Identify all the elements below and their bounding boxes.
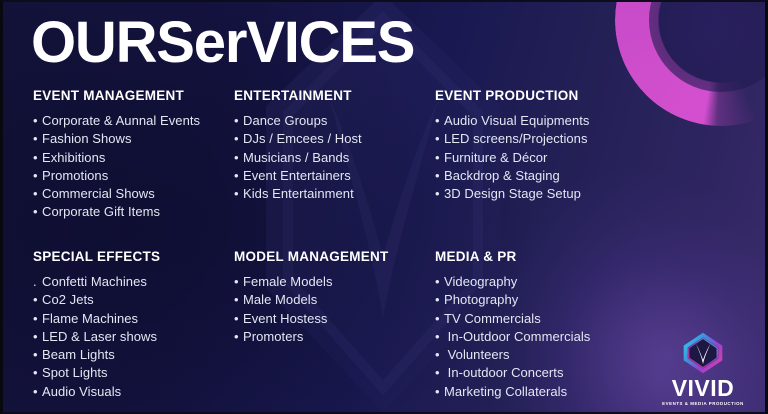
- bullet-marker: •: [435, 383, 444, 401]
- brand-logo: VIVID EVENTS & MEDIA PRODUCTION: [655, 330, 751, 406]
- bullet-marker: •: [33, 328, 42, 346]
- logo-tagline: EVENTS & MEDIA PRODUCTION: [655, 402, 751, 406]
- list-item-label: Corporate & Aunnal Events: [42, 113, 200, 128]
- list-item: •LED & Laser shows: [33, 328, 233, 346]
- list-item: •Corporate & Aunnal Events: [33, 112, 233, 130]
- list-item: •Videography: [435, 273, 655, 291]
- list-item: •Male Models: [234, 291, 434, 309]
- list-item: • In-Outdoor Commercials: [435, 328, 655, 346]
- list-item-label: Marketing Collaterals: [444, 384, 567, 399]
- list-item-label: Fashion Shows: [42, 131, 132, 146]
- bullet-marker: •: [435, 112, 444, 130]
- bullet-marker: •: [33, 346, 42, 364]
- list-item: •Audio Visuals: [33, 383, 233, 401]
- list-item-label: In-outdoor Concerts: [444, 365, 564, 380]
- bullet-marker: •: [435, 273, 444, 291]
- list-item: •Promoters: [234, 328, 434, 346]
- bullet-marker: •: [234, 310, 243, 328]
- list-item-label: Confetti Machines: [42, 274, 147, 289]
- list-item-label: Volunteers: [444, 347, 510, 362]
- service-block-event-management: EVENT MANAGEMENT •Corporate & Aunnal Eve…: [33, 88, 233, 222]
- services-row-top: EVENT MANAGEMENT •Corporate & Aunnal Eve…: [3, 88, 768, 208]
- service-list: •Videography •Photography •TV Commercial…: [435, 273, 655, 401]
- list-item: •Female Models: [234, 273, 434, 291]
- list-item-label: In-Outdoor Commercials: [444, 329, 590, 344]
- service-block-special-effects: SPECIAL EFFECTS .Confetti Machines •Co2 …: [33, 249, 233, 401]
- list-item: •TV Commercials: [435, 310, 655, 328]
- list-item: •Flame Machines: [33, 310, 233, 328]
- bullet-marker: •: [33, 185, 42, 203]
- list-item: •Musicians / Bands: [234, 149, 434, 167]
- list-item-label: LED & Laser shows: [42, 329, 157, 344]
- service-block-model-management: MODEL MANAGEMENT •Female Models •Male Mo…: [234, 249, 434, 346]
- list-item: •Dance Groups: [234, 112, 434, 130]
- bullet-marker: •: [234, 149, 243, 167]
- list-item-label: Co2 Jets: [42, 292, 94, 307]
- service-list: •Audio Visual Equipments •LED screens/Pr…: [435, 112, 655, 203]
- bullet-marker: •: [33, 364, 42, 382]
- list-item-label: Event Hostess: [243, 311, 327, 326]
- bullet-marker: •: [33, 149, 42, 167]
- list-item-label: Audio Visuals: [42, 384, 121, 399]
- list-item: •Photography: [435, 291, 655, 309]
- bullet-marker: •: [33, 112, 42, 130]
- page-title-upper: OUR: [31, 10, 156, 75]
- bullet-marker: •: [435, 149, 444, 167]
- list-item-label: Male Models: [243, 292, 317, 307]
- list-item-label: Photography: [444, 292, 518, 307]
- list-item: •Co2 Jets: [33, 291, 233, 309]
- list-item: •Kids Entertainment: [234, 185, 434, 203]
- bullet-marker: •: [435, 364, 444, 382]
- list-item-label: Dance Groups: [243, 113, 327, 128]
- list-item-label: Promoters: [243, 329, 303, 344]
- list-item-label: Audio Visual Equipments: [444, 113, 589, 128]
- list-item-label: Promotions: [42, 168, 108, 183]
- list-item-label: TV Commercials: [444, 311, 541, 326]
- page-title: OURSerVICES: [31, 14, 414, 72]
- services-grid: EVENT MANAGEMENT •Corporate & Aunnal Eve…: [3, 88, 768, 409]
- bullet-marker: •: [234, 291, 243, 309]
- list-item-label: Backdrop & Staging: [444, 168, 560, 183]
- bullet-marker: •: [33, 310, 42, 328]
- bullet-marker: •: [435, 346, 444, 364]
- bullet-marker: •: [435, 310, 444, 328]
- list-item: •Exhibitions: [33, 149, 233, 167]
- list-item: • Volunteers: [435, 346, 655, 364]
- list-item-label: Corporate Gift Items: [42, 204, 160, 219]
- service-list: .Confetti Machines •Co2 Jets •Flame Mach…: [33, 273, 233, 401]
- service-list: •Corporate & Aunnal Events •Fashion Show…: [33, 112, 233, 222]
- list-item-label: Musicians / Bands: [243, 150, 349, 165]
- list-item-label: Furniture & Décor: [444, 150, 547, 165]
- bullet-marker: •: [33, 167, 42, 185]
- list-item: •Spot Lights: [33, 364, 233, 382]
- list-item: •Fashion Shows: [33, 130, 233, 148]
- category-heading: MODEL MANAGEMENT: [234, 249, 434, 264]
- list-item: .Confetti Machines: [33, 273, 233, 291]
- bullet-marker: •: [435, 130, 444, 148]
- list-item: •Corporate Gift Items: [33, 203, 233, 221]
- logo-wordmark: VIVID: [655, 377, 751, 400]
- list-item-label: Videography: [444, 274, 517, 289]
- service-block-event-production: EVENT PRODUCTION •Audio Visual Equipment…: [435, 88, 655, 203]
- list-item-label: Spot Lights: [42, 365, 108, 380]
- category-heading: ENTERTAINMENT: [234, 88, 434, 103]
- list-item: •Event Hostess: [234, 310, 434, 328]
- category-heading: EVENT MANAGEMENT: [33, 88, 233, 103]
- list-item-label: Beam Lights: [42, 347, 115, 362]
- bullet-marker: •: [234, 273, 243, 291]
- list-item: •DJs / Emcees / Host: [234, 130, 434, 148]
- services-slide: OURSerVICES EVENT MANAGEMENT •Corporate …: [0, 0, 768, 414]
- bullet-marker: .: [33, 273, 42, 291]
- bullet-marker: •: [234, 185, 243, 203]
- list-item-label: Flame Machines: [42, 311, 138, 326]
- list-item: • In-outdoor Concerts: [435, 364, 655, 382]
- list-item: •3D Design Stage Setup: [435, 185, 655, 203]
- list-item-label: Exhibitions: [42, 150, 105, 165]
- list-item: •Furniture & Décor: [435, 149, 655, 167]
- service-list: •Dance Groups •DJs / Emcees / Host •Musi…: [234, 112, 434, 203]
- list-item: •Backdrop & Staging: [435, 167, 655, 185]
- bullet-marker: •: [234, 112, 243, 130]
- bullet-marker: •: [33, 291, 42, 309]
- bullet-marker: •: [435, 185, 444, 203]
- list-item-label: Kids Entertainment: [243, 186, 354, 201]
- list-item-label: 3D Design Stage Setup: [444, 186, 581, 201]
- service-list: •Female Models •Male Models •Event Hoste…: [234, 273, 434, 346]
- list-item-label: LED screens/Projections: [444, 131, 588, 146]
- bullet-marker: •: [33, 203, 42, 221]
- category-heading: MEDIA & PR: [435, 249, 655, 264]
- list-item: •Promotions: [33, 167, 233, 185]
- bullet-marker: •: [33, 130, 42, 148]
- list-item: •Commercial Shows: [33, 185, 233, 203]
- list-item: •Marketing Collaterals: [435, 383, 655, 401]
- service-block-media-pr: MEDIA & PR •Videography •Photography •TV…: [435, 249, 655, 401]
- list-item-label: Event Entertainers: [243, 168, 351, 183]
- list-item: •Event Entertainers: [234, 167, 434, 185]
- bullet-marker: •: [435, 167, 444, 185]
- category-heading: EVENT PRODUCTION: [435, 88, 655, 103]
- services-row-bottom: SPECIAL EFFECTS .Confetti Machines •Co2 …: [3, 249, 768, 409]
- service-block-entertainment: ENTERTAINMENT •Dance Groups •DJs / Emcee…: [234, 88, 434, 203]
- list-item: •LED screens/Projections: [435, 130, 655, 148]
- bullet-marker: •: [435, 328, 444, 346]
- list-item: •Audio Visual Equipments: [435, 112, 655, 130]
- bullet-marker: •: [435, 291, 444, 309]
- page-title-lower: SerVICES: [156, 10, 414, 75]
- vivid-diamond-icon: [680, 330, 726, 376]
- list-item: •Beam Lights: [33, 346, 233, 364]
- bullet-marker: •: [33, 383, 42, 401]
- list-item-label: DJs / Emcees / Host: [243, 131, 362, 146]
- category-heading: SPECIAL EFFECTS: [33, 249, 233, 264]
- list-item-label: Commercial Shows: [42, 186, 155, 201]
- list-item-label: Female Models: [243, 274, 333, 289]
- bullet-marker: •: [234, 328, 243, 346]
- bullet-marker: •: [234, 130, 243, 148]
- bullet-marker: •: [234, 167, 243, 185]
